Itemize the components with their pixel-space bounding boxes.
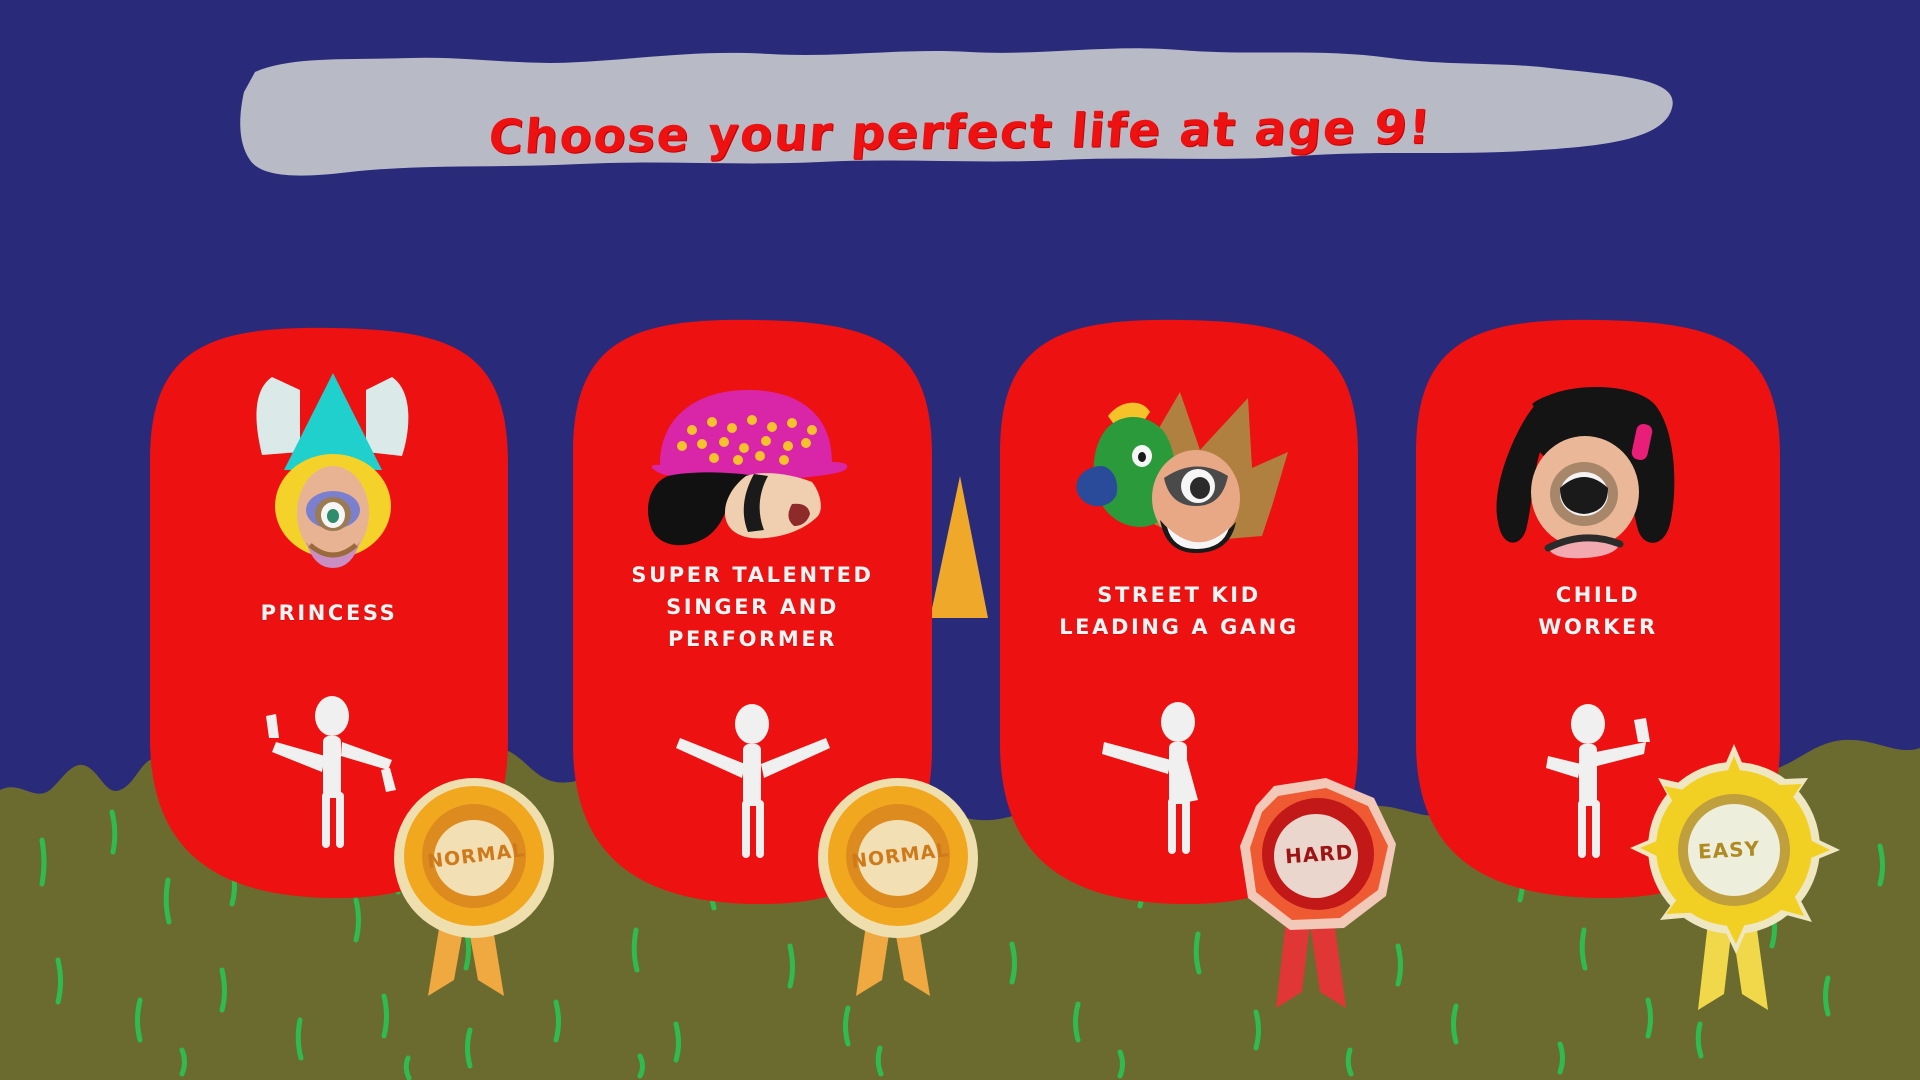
badge-normal-singer[interactable]: [818, 778, 978, 996]
scene-canvas: Choose your perfect life at age 9! PRINC…: [0, 0, 1920, 1080]
badge-easy-child-worker[interactable]: [1630, 744, 1840, 1010]
badge-label-easy-child-worker[interactable]: EASY: [1697, 836, 1760, 863]
badge-hard-street-kid[interactable]: [1240, 778, 1396, 1008]
badge-normal-princess[interactable]: [394, 778, 554, 996]
badge-label-hard-street-kid[interactable]: HARD: [1284, 840, 1354, 869]
